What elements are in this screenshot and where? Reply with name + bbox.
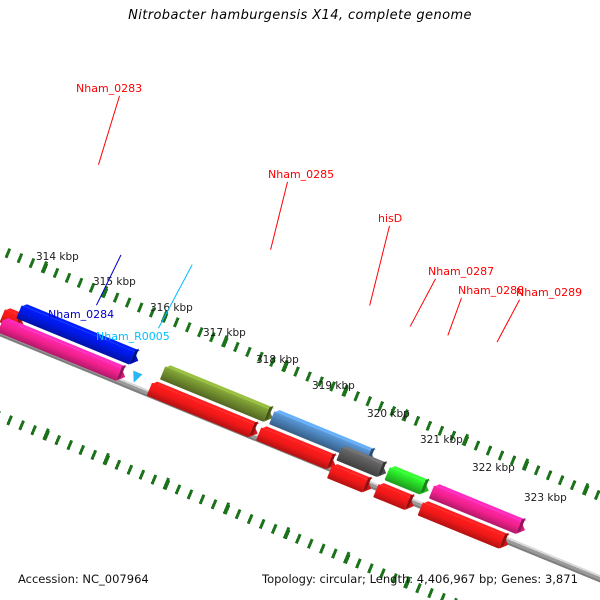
leader-line-Nham_0285	[270, 182, 288, 250]
ruler-tick-label-9: 323 kbp	[524, 492, 567, 504]
leader-line-hisD	[369, 226, 390, 306]
genome-viewer: Nitrobacter hamburgensis X14, complete g…	[0, 0, 600, 600]
gene-label-hisD[interactable]: hisD	[378, 212, 402, 225]
genome-map-plane	[0, 150, 600, 600]
ruler-tick-label-5: 319 kbp	[312, 380, 355, 392]
leader-line-Nham_0289	[497, 300, 520, 343]
page-title: Nitrobacter hamburgensis X14, complete g…	[0, 8, 600, 23]
gene-label-Nham_0289[interactable]: Nham_0289	[516, 286, 582, 299]
ruler-tick-label-3: 317 kbp	[203, 327, 246, 339]
genome-summary-text: Topology: circular; Length: 4,406,967 bp…	[262, 572, 578, 586]
accession-text: Accession: NC_007964	[18, 572, 149, 586]
gene-label-Nham_0287[interactable]: Nham_0287	[428, 265, 494, 278]
gene-label-Nham_0284[interactable]: Nham_0284	[48, 308, 114, 321]
leader-line-Nham_0283	[98, 96, 120, 165]
ruler-tick-label-1: 315 kbp	[93, 276, 136, 288]
gene-label-Nham_0283[interactable]: Nham_0283	[76, 82, 142, 95]
ruler-tick-label-6: 320 kbp	[367, 408, 410, 420]
gene-label-Nham_0285[interactable]: Nham_0285	[268, 168, 334, 181]
ruler-tick-label-7: 321 kbp	[420, 434, 463, 446]
leader-line-Nham_0288	[447, 298, 462, 336]
gene-label-Nham_0288[interactable]: Nham_0288	[458, 284, 524, 297]
ruler-tick-label-0: 314 kbp	[36, 251, 79, 263]
leader-line-Nham_0287	[410, 279, 436, 327]
ruler-tick-label-4: 318 kbp	[256, 354, 299, 366]
ruler-tick-label-8: 322 kbp	[472, 462, 515, 474]
gene-label-Nham_R0005[interactable]: Nham_R0005	[96, 330, 170, 343]
